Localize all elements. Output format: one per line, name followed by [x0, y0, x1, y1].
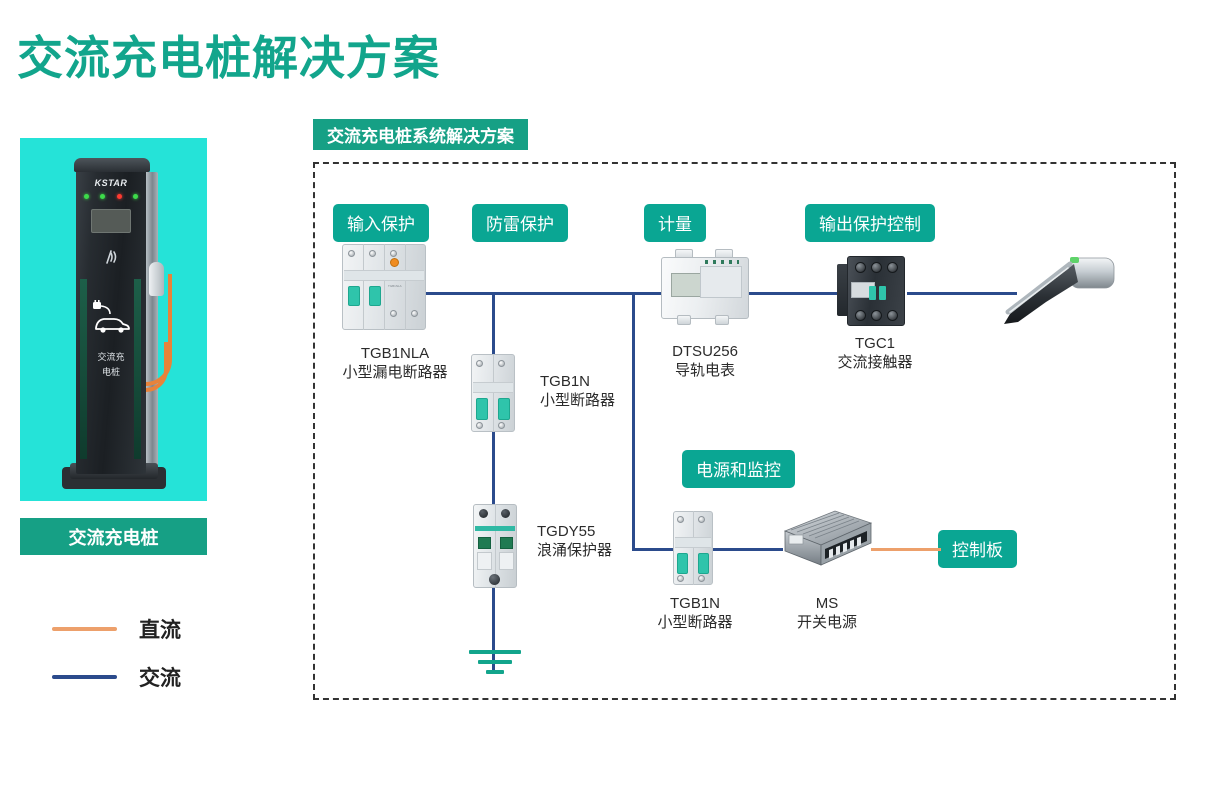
- status-led-green-3: [133, 194, 138, 199]
- component-psu-ms: [781, 509, 873, 573]
- status-led-red: [117, 194, 122, 199]
- component-charging-gun: [998, 252, 1116, 334]
- label-mcb-top-name: 小型断路器: [540, 391, 615, 410]
- wire-ac-branch-psu-vertical: [632, 292, 635, 550]
- legend: 直流 交流: [52, 605, 181, 701]
- component-contactor-tgc1: [837, 256, 909, 328]
- product-caption: 交流充电桩: [20, 518, 207, 555]
- label-rcbo-tgb1nla: TGB1NLA 小型漏电断路器: [310, 344, 480, 382]
- pile-vertical-text: 交流充电桩: [96, 350, 126, 380]
- legend-item-dc: 直流: [52, 605, 181, 653]
- label-mcb-bottom-tgb1n: TGB1N 小型断路器: [627, 594, 763, 632]
- label-psu-model: MS: [759, 594, 895, 613]
- status-led-green-2: [100, 194, 105, 199]
- legend-swatch-dc: [52, 627, 117, 631]
- section-label-input-protection: 输入保护: [333, 204, 429, 242]
- label-spd-tgdy55: TGDY55 浪涌保护器: [537, 522, 612, 560]
- pile-display-screen: [91, 209, 131, 233]
- wire-ac-meter-to-contactor: [749, 292, 849, 295]
- label-mcb-bottom-model: TGB1N: [627, 594, 763, 613]
- product-image-panel: KSTAR: [20, 138, 207, 501]
- label-spd-name: 浪涌保护器: [537, 541, 612, 560]
- wire-ac-branch-psu-horizontal: [632, 548, 674, 551]
- wire-ac-spd-to-ground: [492, 592, 495, 650]
- section-label-power-and-monitoring: 电源和监控: [682, 450, 795, 488]
- label-mcb-top-tgb1n: TGB1N 小型断路器: [540, 372, 615, 410]
- legend-label-dc: 直流: [139, 614, 181, 644]
- ev-charging-car-icon: [90, 300, 132, 334]
- pile-stripe-left: [80, 279, 87, 459]
- label-spd-model: TGDY55: [537, 522, 612, 541]
- component-mcb-bottom-tgb1n: [673, 511, 713, 585]
- label-meter-dtsu256: DTSU256 导轨电表: [635, 342, 775, 380]
- component-rcbo-tgb1nla: TGB1NLA: [342, 244, 426, 330]
- label-meter-name: 导轨电表: [635, 361, 775, 380]
- label-meter-model: DTSU256: [635, 342, 775, 361]
- pile-gun-cable-loop: [146, 342, 168, 392]
- component-mcb-top-tgb1n: [471, 354, 515, 432]
- diagram-title-banner: 交流充电桩系统解决方案: [313, 119, 528, 150]
- label-contactor-name: 交流接触器: [807, 353, 943, 372]
- ground-symbol: [467, 650, 523, 682]
- legend-label-ac: 交流: [139, 662, 181, 692]
- label-contactor-model: TGC1: [807, 334, 943, 353]
- section-label-control-board: 控制板: [938, 530, 1017, 568]
- wire-ac-mcb-to-psu: [711, 548, 783, 551]
- component-spd-tgdy55: [473, 504, 517, 588]
- ground-bar-3: [486, 670, 504, 674]
- pile-top-cap: [74, 158, 150, 172]
- diagram-area: 输入保护 防雷保护 计量 输出保护控制 电源和监控 控制板 TGB1NLA TG…: [313, 162, 1176, 700]
- ground-bar-1: [469, 650, 521, 654]
- label-contactor-tgc1: TGC1 交流接触器: [807, 334, 943, 372]
- label-psu-name: 开关电源: [759, 613, 895, 632]
- pile-stripe-right: [134, 279, 141, 459]
- label-mcb-top-model: TGB1N: [540, 372, 615, 391]
- ground-bar-2: [478, 660, 512, 664]
- status-led-green-1: [84, 194, 89, 199]
- rfid-wave-icon: [98, 247, 124, 267]
- pile-brand-label: KSTAR: [76, 178, 146, 188]
- wire-dc-psu-to-control-board: [871, 548, 941, 551]
- label-psu-ms: MS 开关电源: [759, 594, 895, 632]
- section-label-metering: 计量: [644, 204, 706, 242]
- pile-led-row: [84, 194, 138, 199]
- label-rcbo-model: TGB1NLA: [310, 344, 480, 363]
- page-title: 交流充电桩解决方案: [17, 22, 440, 88]
- legend-item-ac: 交流: [52, 653, 181, 701]
- wire-ac-main-bus-left: [389, 292, 661, 295]
- legend-swatch-ac: [52, 675, 117, 679]
- label-rcbo-name: 小型漏电断路器: [310, 363, 480, 382]
- component-meter-dtsu256: [661, 249, 749, 329]
- charging-pile-illustration: KSTAR: [54, 154, 174, 489]
- section-label-lightning-protection: 防雷保护: [472, 204, 568, 242]
- label-mcb-bottom-name: 小型断路器: [627, 613, 763, 632]
- section-label-output-protection-control: 输出保护控制: [805, 204, 935, 242]
